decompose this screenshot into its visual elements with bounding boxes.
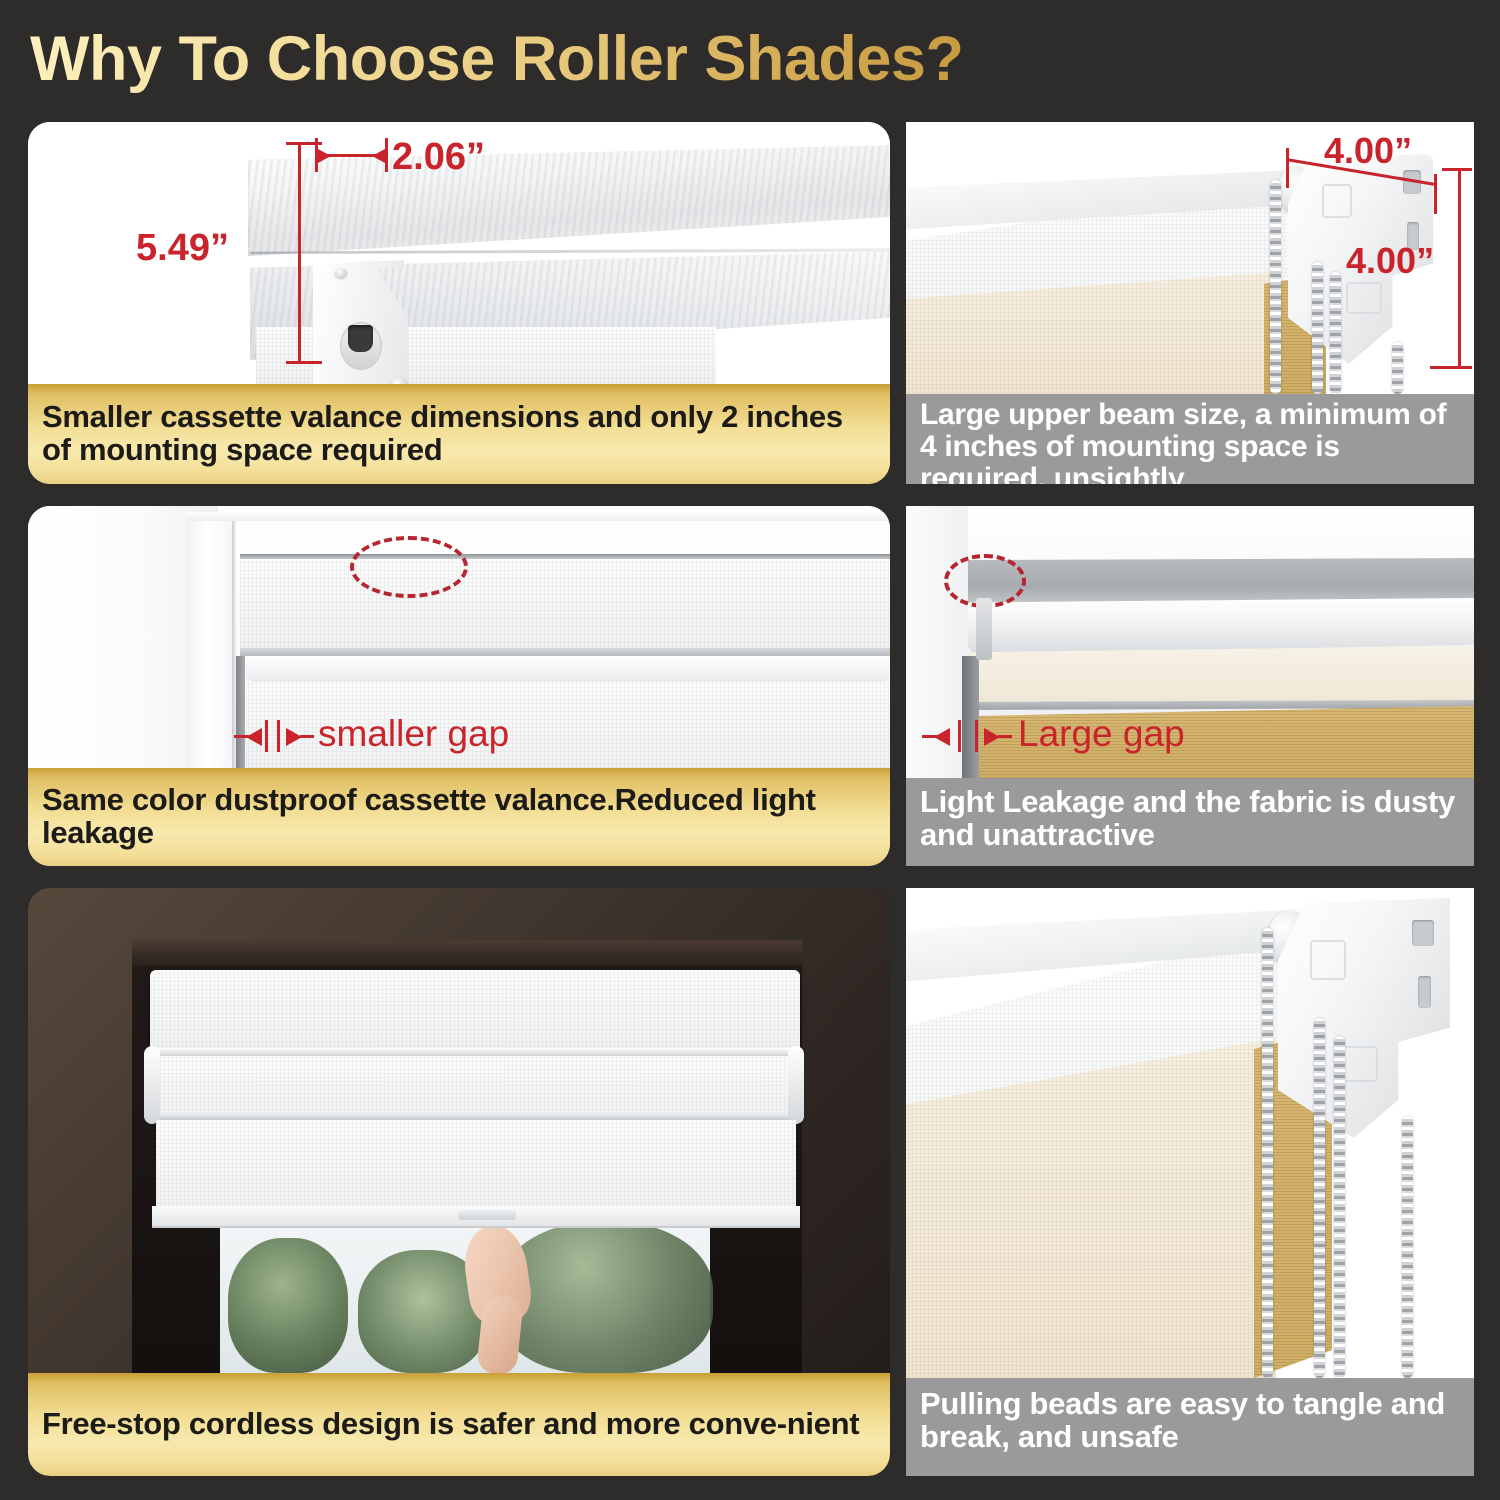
window-frame-inner-jamb: [186, 514, 234, 768]
beam-height-top-tick: [1442, 168, 1472, 171]
bead-chain-loose: [1392, 342, 1403, 394]
bead-chain-outer: [1270, 180, 1281, 394]
shade-pull-grip: [458, 1210, 516, 1220]
bracket-notch-mid: [1418, 976, 1431, 1008]
height-dim-top-tick: [286, 142, 322, 145]
caption-bar-dustproof-valance: Same color dustproof cassette valance.Re…: [28, 768, 890, 866]
beam-width-left-tick: [1286, 148, 1289, 188]
caption-bar-pulling-beads: Pulling beads are easy to tangle and bre…: [906, 1378, 1474, 1476]
panel-smaller-cassette-valance: 2.06” 5.49” Smaller cassette valance dim…: [28, 122, 890, 484]
roller-tube-seat: [246, 656, 890, 682]
beam-width-label: 4.00”: [1324, 130, 1412, 172]
cassette-valance-lower-edge: [240, 648, 890, 656]
bracket-clip: [976, 598, 992, 660]
gap-arrow-right-stem: [998, 735, 1012, 738]
height-dim-bottom-tick: [286, 361, 322, 364]
gap-tick-right: [277, 720, 280, 752]
tree-left: [228, 1238, 348, 1373]
clutch-slot: [348, 325, 373, 352]
gap-arrow-left-stem: [922, 735, 938, 738]
smaller-gap-strip: [236, 656, 245, 768]
bracket-emboss-lower: [1346, 282, 1382, 314]
gap-highlight-ellipse: [350, 536, 468, 598]
shade-valance-bottom-rail: [150, 1048, 800, 1056]
bead-chain-middle: [1312, 262, 1323, 394]
pulling-beads-photo: [906, 888, 1474, 1378]
bracket-notch-top: [1412, 920, 1434, 946]
beam-height-label: 4.00”: [1346, 240, 1434, 282]
shade-valance-head: [150, 970, 800, 1050]
width-dim-arrow-right: [372, 149, 385, 163]
caption-text: Large upper beam size, a minimum of 4 in…: [920, 399, 1460, 484]
large-beam-photo: 4.00” 4.00”: [906, 122, 1474, 394]
panel-free-stop-cordless: Free-stop cordless design is safer and m…: [28, 888, 890, 1476]
bead-chain-inner: [1334, 1036, 1345, 1378]
caption-text: Same color dustproof cassette valance.Re…: [42, 784, 876, 850]
shade-valance-second-tier: [156, 1056, 796, 1118]
width-dim-arrow-left: [318, 149, 331, 163]
smaller-gap-label: smaller gap: [318, 713, 509, 755]
window-recess-top-ledge: [132, 940, 802, 966]
large-gap-strip: [962, 656, 979, 778]
bead-chain-loose: [1402, 1116, 1413, 1378]
panel-light-leakage: Large gap Light Leakage and the fabric i…: [906, 506, 1474, 866]
beam-height-bottom-tick: [1430, 366, 1472, 369]
shade-fabric-body: [156, 1120, 796, 1208]
dustproof-valance-photo: smaller gap: [28, 506, 890, 768]
white-valance-roll: [968, 598, 1474, 654]
gap-tick-left: [265, 720, 268, 752]
gap-tick-right: [975, 720, 978, 752]
valance-end-cap-left: [144, 1046, 160, 1124]
width-dimension-label: 2.06”: [392, 136, 485, 179]
caption-text: Free-stop cordless design is safer and m…: [42, 1408, 859, 1441]
panel-large-upper-beam: 4.00” 4.00” Large upper beam size, a min…: [906, 122, 1474, 484]
bead-chain-inner: [1330, 272, 1341, 394]
cordless-room-photo: [28, 888, 890, 1373]
large-gap-label: Large gap: [1018, 713, 1185, 755]
panel-pulling-beads: Pulling beads are easy to tangle and bre…: [906, 888, 1474, 1476]
height-dimension-label: 5.49”: [136, 227, 229, 270]
header-bar: Why To Choose Roller Shades?: [0, 0, 1500, 118]
window-frame-top-lip: [186, 512, 890, 521]
bead-chain-middle: [1314, 1018, 1325, 1378]
panel-dustproof-cassette-valance: smaller gap Same color dustproof cassett…: [28, 506, 890, 866]
caption-bar-free-stop-cordless: Free-stop cordless design is safer and m…: [28, 1373, 890, 1476]
beam-width-right-tick: [1434, 174, 1437, 214]
cassette-valance-photo: 2.06” 5.49”: [28, 122, 890, 384]
caption-text: Smaller cassette valance dimensions and …: [42, 401, 876, 467]
height-dim-rule: [298, 142, 301, 364]
bracket-emboss-upper: [1310, 940, 1346, 980]
valance-top-texture: [248, 144, 890, 256]
gap-tick-left: [958, 720, 961, 752]
light-leakage-photo: Large gap: [906, 506, 1474, 778]
page-title: Why To Choose Roller Shades?: [30, 23, 963, 95]
caption-text: Light Leakage and the fabric is dusty an…: [920, 786, 1460, 852]
caption-bar-light-leakage: Light Leakage and the fabric is dusty an…: [906, 778, 1474, 866]
cap-pin-icon: [335, 268, 347, 278]
bracket-emboss-upper: [1322, 184, 1352, 218]
gap-arrow-left-stem: [234, 735, 250, 738]
forearm: [476, 1294, 524, 1373]
cassette-valance-face: [240, 559, 890, 651]
bead-chain-outer: [1262, 928, 1273, 1378]
cream-fabric-band: [968, 646, 1474, 708]
gap-arrow-right-stem: [300, 735, 314, 738]
caption-bar-smaller-cassette: Smaller cassette valance dimensions and …: [28, 384, 890, 484]
caption-bar-large-beam: Large upper beam size, a minimum of 4 in…: [906, 394, 1474, 484]
caption-text: Pulling beads are easy to tangle and bre…: [920, 1388, 1460, 1454]
valance-end-cap-right: [788, 1046, 804, 1124]
beam-height-rule: [1458, 168, 1461, 368]
